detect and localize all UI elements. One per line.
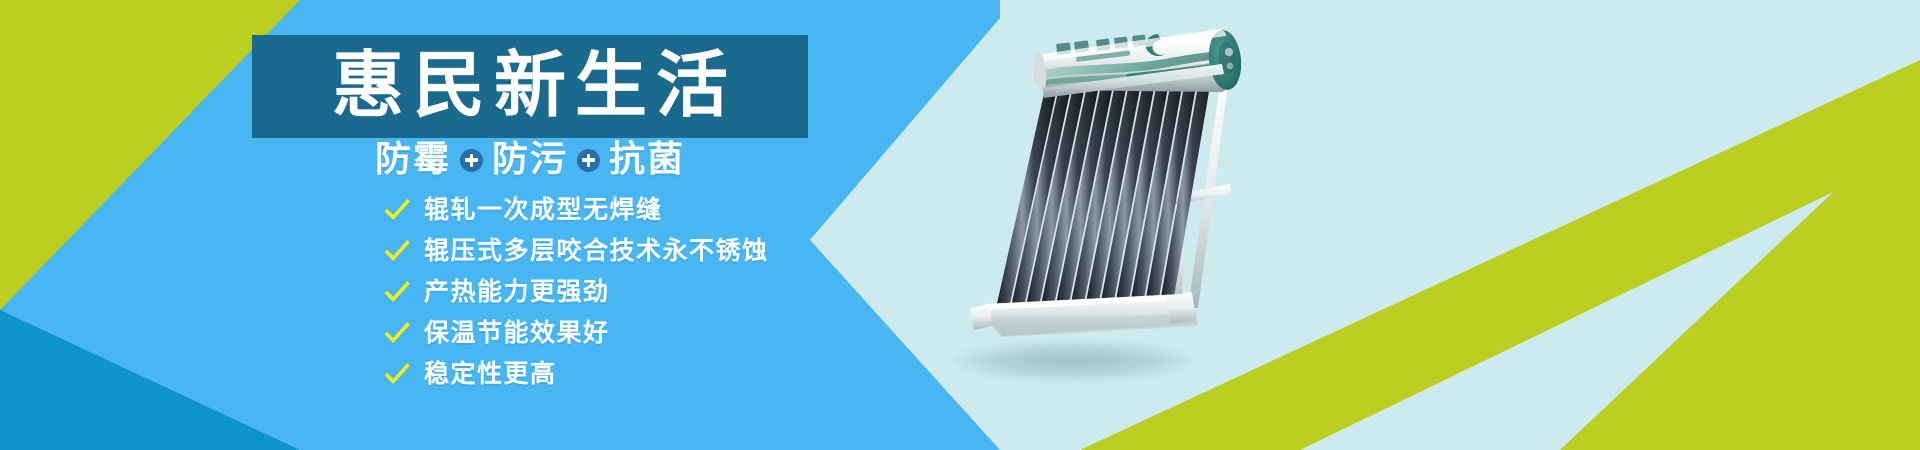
subtitle-word-2: 防污 (492, 142, 568, 178)
list-item: 辊压式多层咬合技术永不锈蚀 (384, 233, 769, 268)
list-item: 辊轧一次成型无焊缝 (384, 192, 769, 227)
list-item: 产热能力更强劲 (384, 274, 769, 309)
check-icon (384, 361, 410, 387)
subtitle-word-3: 抗菌 (609, 142, 685, 178)
page-title: 惠民新生活 (323, 49, 737, 121)
product-shadow (948, 340, 1198, 382)
list-item-label: 辊压式多层咬合技术永不锈蚀 (424, 238, 769, 263)
check-icon (384, 279, 410, 305)
list-item-label: 保温节能效果好 (424, 320, 610, 345)
list-item: 稳定性更高 (384, 356, 769, 391)
feature-list: 辊轧一次成型无焊缝 辊压式多层咬合技术永不锈蚀 产热能力更强劲 保温节能效果好 (384, 192, 769, 391)
subtitle-word-1: 防霉 (375, 142, 451, 178)
product-image-solar-water-heater (930, 8, 1270, 438)
list-item: 保温节能效果好 (384, 315, 769, 350)
list-item-label: 稳定性更高 (424, 361, 557, 386)
check-icon (384, 197, 410, 223)
list-item-label: 产热能力更强劲 (424, 279, 610, 304)
plus-badge-icon (577, 149, 600, 172)
plus-badge-icon (460, 149, 483, 172)
subtitle-row: 防霉 防污 抗菌 (252, 142, 808, 178)
promo-banner: 惠民新生活 防霉 防污 抗菌 辊轧一次成型无焊缝 辊压式多层咬合技术永不锈蚀 产… (0, 0, 1920, 450)
list-item-label: 辊轧一次成型无焊缝 (424, 197, 663, 222)
check-icon (384, 320, 410, 346)
title-box: 惠民新生活 (252, 35, 808, 138)
check-icon (384, 238, 410, 264)
